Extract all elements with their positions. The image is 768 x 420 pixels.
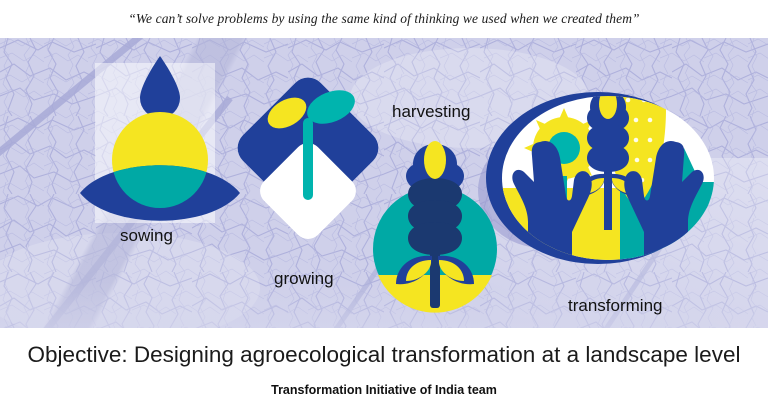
stage-transforming[interactable]: transforming: [480, 78, 740, 328]
yellow-grain: [424, 141, 446, 179]
objective-title: Objective: Designing agroecological tran…: [0, 342, 768, 368]
quote-strip: “We can’t solve problems by using the sa…: [0, 0, 768, 38]
stage-label-sowing: sowing: [120, 226, 173, 246]
footer: Objective: Designing agroecological tran…: [0, 328, 768, 420]
stage-label-harvesting: harvesting: [392, 102, 470, 122]
wheat-stem: [430, 246, 440, 308]
stage-sowing[interactable]: sowing: [70, 48, 250, 268]
banner-illustration: sowing growing harvesting: [0, 38, 768, 328]
dark-wheat-body: [408, 178, 462, 255]
water-droplet-icon: [140, 56, 180, 118]
stage-label-transforming: transforming: [568, 296, 662, 316]
sowing-icon: [70, 48, 250, 233]
team-subtitle: Transformation Initiative of India team: [0, 383, 768, 397]
transforming-icon: [480, 78, 730, 278]
quote-text: “We can’t solve problems by using the sa…: [128, 11, 639, 27]
teal-stem: [303, 118, 313, 200]
stage-label-growing: growing: [274, 269, 334, 289]
